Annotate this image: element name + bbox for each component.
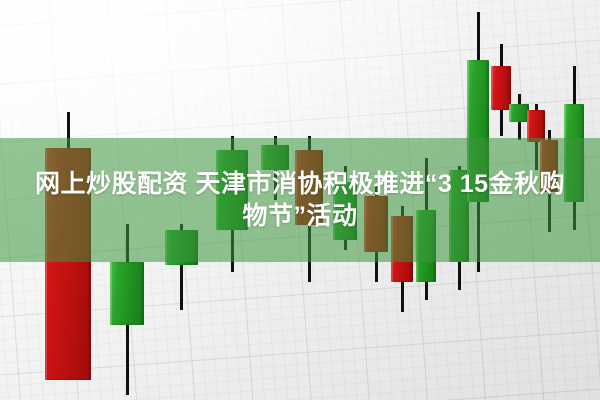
headline-text: 网上炒股配资 天津市消协积极推进“3 15金秋购 物节”活动 bbox=[0, 168, 600, 233]
candle-body bbox=[509, 104, 529, 122]
banner-image: 网上炒股配资 天津市消协积极推进“3 15金秋购 物节”活动 bbox=[0, 0, 600, 400]
headline-line-2: 物节”活动 bbox=[10, 200, 590, 233]
candle-body bbox=[110, 262, 144, 325]
headline-line-1: 网上炒股配资 天津市消协积极推进“3 15金秋购 bbox=[10, 168, 590, 201]
candle-body bbox=[491, 66, 511, 110]
